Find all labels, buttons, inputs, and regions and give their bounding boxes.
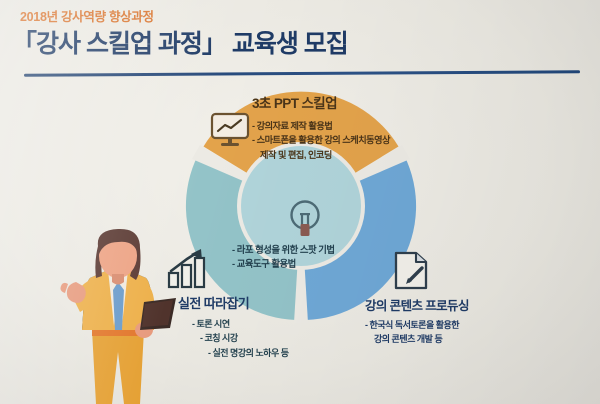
poster-eyebrow: 2018년 강사역량 향상과정: [20, 6, 154, 25]
list-item: - 실전 명강의 노하우 등: [178, 346, 289, 360]
presentation-monitor-icon: [210, 112, 250, 148]
female-presenter-with-tablet: [52, 226, 182, 404]
list-item: - 교육도구 활용법: [232, 257, 335, 271]
section-practice-followup: 실전 따라잡기 - 토론 시연 - 코칭 시강 - 실전 명강의 노하우 등: [178, 293, 289, 360]
list-item: - 한국식 독서토론을 활용한: [365, 319, 469, 333]
list-item: 강의 콘텐츠 개발 등: [365, 333, 469, 347]
page-title: 「강사 스킬업 과정」 교육생 모집: [12, 24, 348, 60]
section-title-ppt-skillup: 3초 PPT 스킬업: [252, 92, 390, 112]
list-item: - 코칭 시강: [178, 331, 289, 345]
section-center-core: - 라포 형성을 위한 스팟 기법 - 교육도구 활용법: [232, 243, 335, 271]
document-pen-icon: [392, 250, 432, 292]
lightbulb-icon: [288, 198, 322, 242]
section-title-content-producing: 강의 콘텐츠 프로듀싱: [365, 295, 469, 314]
section-content-producing: 강의 콘텐츠 프로듀싱 - 한국식 독서토론을 활용한 강의 콘텐츠 개발 등: [365, 295, 469, 347]
list-item: - 라포 형성을 위한 스팟 기법: [232, 243, 335, 257]
list-item: - 강의자료 제작 활용법: [252, 119, 390, 133]
list-item: 제작 및 편집, 인코딩: [252, 148, 390, 162]
section-bullets-ppt-skillup: - 강의자료 제작 활용법 - 스마트폰을 활용한 강의 스케치동영상 제작 및…: [252, 119, 390, 162]
section-bullets-content-producing: - 한국식 독서토론을 활용한 강의 콘텐츠 개발 등: [365, 319, 469, 347]
section-ppt-skillup: 3초 PPT 스킬업 - 강의자료 제작 활용법 - 스마트폰을 활용한 강의 …: [252, 92, 390, 162]
section-title-practice-followup: 실전 따라잡기: [178, 293, 289, 312]
section-bullets-practice-followup: - 토론 시연 - 코칭 시강 - 실전 명강의 노하우 등: [178, 317, 289, 360]
list-item: - 토론 시연: [178, 317, 289, 331]
list-item: - 스마트폰을 활용한 강의 스케치동영상: [252, 133, 390, 147]
